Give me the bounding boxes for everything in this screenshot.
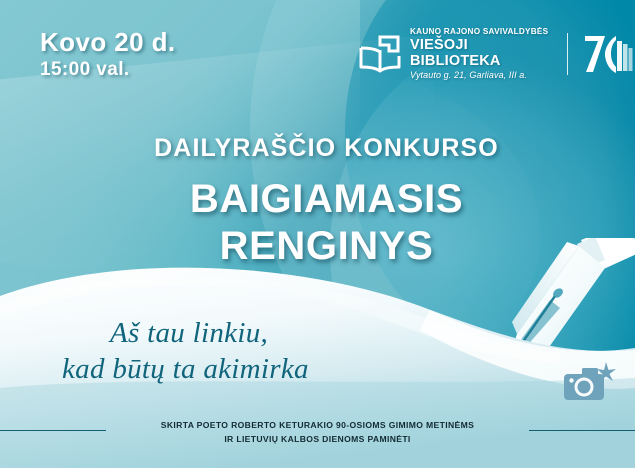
footer-line-1: SKIRTA POETO ROBERTO KETURAKIO 90-OSIOMS… xyxy=(0,418,635,432)
seventy-anniversary-books-icon xyxy=(583,32,635,76)
poster-footer: SKIRTA POETO ROBERTO KETURAKIO 90-OSIOMS… xyxy=(0,418,635,446)
logo-divider xyxy=(567,33,568,75)
footer-line-2: IR LIETUVIŲ KALBOS DIENOMS PAMINĖTI xyxy=(0,432,635,446)
poem-quote-line-2: kad būtų ta akimirka xyxy=(62,352,309,386)
poster-headings: DAILYRAŠČIO KONKURSO BAIGIAMASIS RENGINY… xyxy=(0,134,635,269)
poem-quote: Aš tau linkiu, kad būtų ta akimirka xyxy=(62,316,309,386)
camera-with-flash-icon xyxy=(556,360,618,410)
library-address: Vytauto g. 21, Garliava, III a. xyxy=(410,71,556,81)
open-book-icon xyxy=(358,34,402,74)
event-poster: Kovo 20 d. 15:00 val. KAUNO RAJONO SAVIV… xyxy=(0,0,635,468)
poem-quote-line-1: Aš tau linkiu, xyxy=(62,316,309,350)
library-logo: KAUNO RAJONO SAVIVALDYBĖS VIEŠOJI BIBLIO… xyxy=(358,28,635,81)
event-time: 15:00 val. xyxy=(40,59,175,82)
poster-title-line-2: RENGINYS xyxy=(0,224,635,269)
poster-title-line-1: BAIGIAMASIS xyxy=(0,177,635,222)
library-municipality: KAUNO RAJONO SAVIVALDYBĖS xyxy=(410,28,556,37)
event-date: Kovo 20 d. xyxy=(40,28,175,57)
library-logo-text: KAUNO RAJONO SAVIVALDYBĖS VIEŠOJI BIBLIO… xyxy=(410,28,556,81)
poster-subtitle: DAILYRAŠČIO KONKURSO xyxy=(0,134,635,163)
library-name: VIEŠOJI BIBLIOTEKA xyxy=(410,38,556,69)
event-date-block: Kovo 20 d. 15:00 val. xyxy=(40,28,175,82)
